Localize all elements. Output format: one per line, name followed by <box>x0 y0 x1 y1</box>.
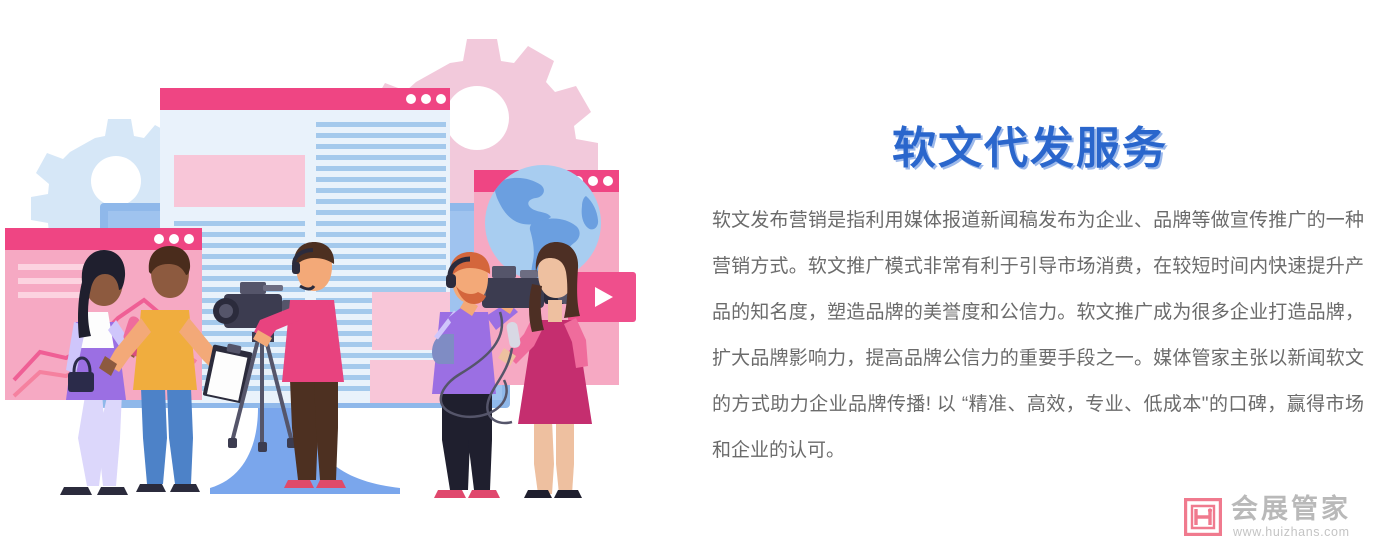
brand-logo[interactable]: 会展管家 www.huizhans.com <box>1184 496 1351 539</box>
hero-content: 软文代发服务 软文发布营销是指利用媒体报道新闻稿发布为企业、品牌等做宣传推广的一… <box>700 0 1400 545</box>
huizhans-mark-icon <box>1184 498 1222 536</box>
press-media-illustration <box>0 0 700 545</box>
brand-logo-text: 会展管家 www.huizhans.com <box>1231 496 1351 539</box>
brand-name: 会展管家 <box>1231 496 1351 523</box>
hero-description: 软文发布营销是指利用媒体报道新闻稿发布为企业、品牌等做宣传推广的一种营销方式。软… <box>712 198 1364 474</box>
brand-url: www.huizhans.com <box>1233 526 1351 539</box>
hero-description-text: 软文发布营销是指利用媒体报道新闻稿发布为企业、品牌等做宣传推广的一种营销方式。软… <box>712 198 1364 474</box>
promo-banner: 软文代发服务 软文发布营销是指利用媒体报道新闻稿发布为企业、品牌等做宣传推广的一… <box>0 0 1400 545</box>
page-title: 软文代发服务 <box>892 112 1168 176</box>
